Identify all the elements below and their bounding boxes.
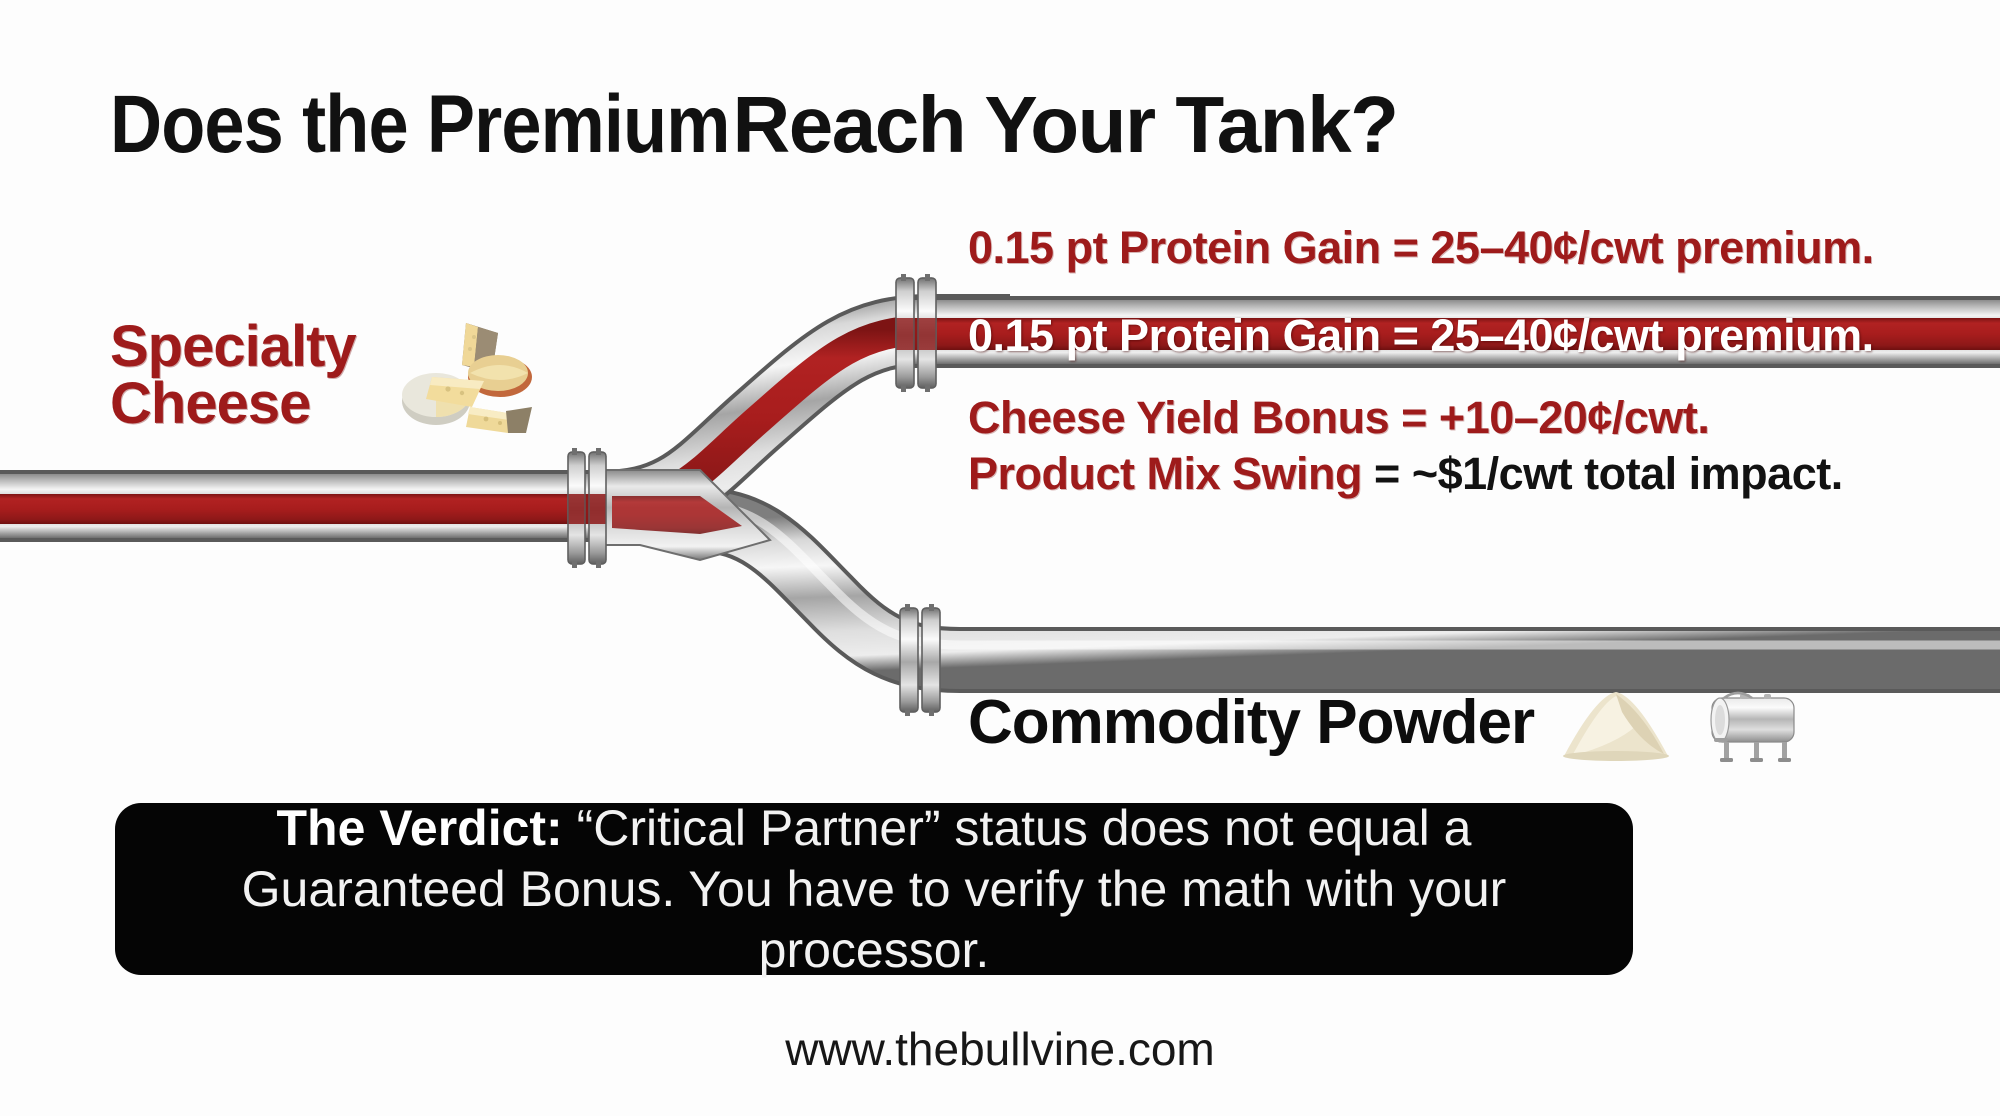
title-part-a: Does the Premium [110, 78, 730, 172]
specialty-cheese-line2: Cheese [110, 375, 356, 432]
specialty-cheese-label: Specialty Cheese [110, 315, 750, 435]
commodity-pipe-branch [700, 505, 2000, 660]
infographic-canvas: Does the Premium Reach Your Tank? [0, 0, 2000, 1116]
commodity-powder-label: Commodity Powder [968, 680, 1808, 764]
flange-lower-commodity [900, 608, 940, 712]
verdict-text: The Verdict: “Critical Partner” status d… [159, 798, 1589, 981]
verdict-box: The Verdict: “Critical Partner” status d… [115, 803, 1633, 975]
page-title: Does the Premium Reach Your Tank? [110, 78, 1910, 172]
callout-protein-premium-on-pipe: 0.15 pt Protein Gain = 25–40¢/cwt premiu… [968, 310, 1874, 362]
specialty-cheese-line1: Specialty [110, 318, 356, 375]
callout-product-mix-swing: Product Mix Swing = ~$1/cwt total impact… [968, 448, 1843, 500]
title-part-b: Reach Your Tank? [732, 79, 1397, 171]
pipe-y-junction [600, 470, 770, 560]
specialty-cheese-text: Specialty Cheese [110, 318, 356, 433]
cheese-assortment-icon [374, 315, 534, 435]
stainless-bulk-tank-icon [1698, 680, 1808, 764]
milk-powder-pile-icon [1556, 682, 1676, 762]
footer-url[interactable]: www.thebullvine.com [0, 1022, 2000, 1076]
verdict-lead: The Verdict: [277, 800, 563, 856]
callout-cheese-yield-bonus: Cheese Yield Bonus = +10–20¢/cwt. [968, 392, 1709, 444]
callout-product-mix-swing-term: Product Mix Swing [968, 448, 1362, 499]
flange-upper-specialty [896, 278, 936, 388]
commodity-powder-text: Commodity Powder [968, 687, 1534, 758]
flange-left-specialty [568, 452, 606, 564]
callout-product-mix-swing-value: = ~$1/cwt total impact. [1362, 448, 1843, 499]
callout-protein-premium-outer: 0.15 pt Protein Gain = 25–40¢/cwt premiu… [968, 222, 1874, 274]
